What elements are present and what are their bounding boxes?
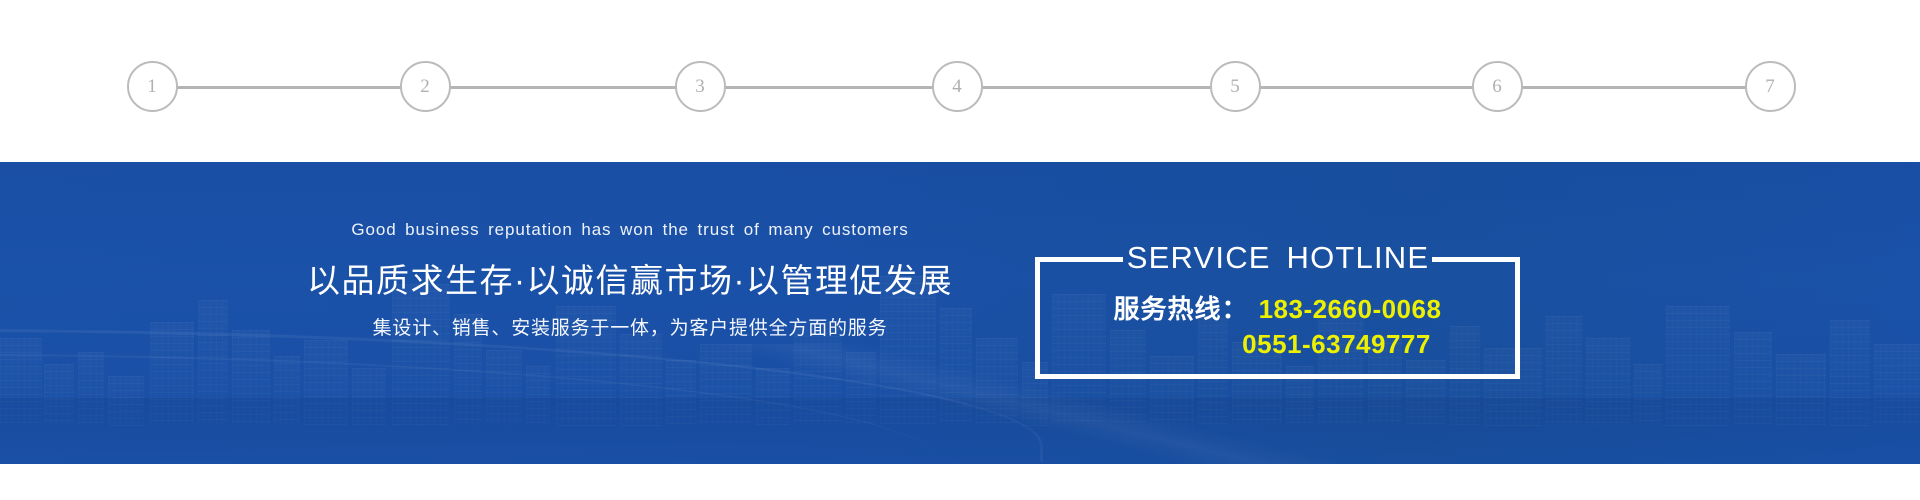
hotline-secondary-row: 0551-63749777 <box>1035 329 1520 360</box>
pagination-strip: 1 2 3 4 5 6 7 <box>0 0 1920 162</box>
step-node-4[interactable]: 4 <box>932 61 983 112</box>
step-node-1[interactable]: 1 <box>127 61 178 112</box>
pagination-steps: 1 2 3 4 5 6 7 <box>0 0 1920 162</box>
step-connector-5-6 <box>1235 86 1497 89</box>
slogan-chinese-sub: 集设计、销售、安装服务于一体，为客户提供全方面的服务 <box>0 313 960 340</box>
step-node-3[interactable]: 3 <box>675 61 726 112</box>
hotline-frame-top-right <box>1432 257 1520 262</box>
step-node-6-label: 6 <box>1492 77 1502 96</box>
hotline-frame-bottom <box>1035 374 1520 379</box>
hotline-label: 服务热线： <box>1114 294 1249 324</box>
slogan-english: Good business reputation has won the tru… <box>0 220 960 240</box>
slogan-chinese-main: 以品质求生存·以诚信赢市场·以管理促发展 <box>0 254 960 302</box>
promo-banner: Good business reputation has won the tru… <box>0 162 1920 464</box>
hotline-title: SERVICE HOTLINE <box>1113 240 1443 276</box>
step-connector-2-3 <box>425 86 700 89</box>
step-connector-6-7 <box>1497 86 1770 89</box>
step-node-7[interactable]: 7 <box>1745 61 1796 112</box>
footer-strip <box>0 464 1920 500</box>
step-node-7-label: 7 <box>1765 77 1775 96</box>
hotline-number-primary[interactable]: 183-2660-0068 <box>1259 294 1442 324</box>
slogan-block: Good business reputation has won the tru… <box>0 162 960 464</box>
step-node-2-label: 2 <box>420 77 430 96</box>
step-node-3-label: 3 <box>695 77 705 96</box>
hotline-primary-row: 服务热线：183-2660-0068 <box>1035 289 1520 326</box>
step-node-2[interactable]: 2 <box>400 61 451 112</box>
step-connector-3-4 <box>700 86 957 89</box>
step-node-5[interactable]: 5 <box>1210 61 1261 112</box>
step-node-5-label: 5 <box>1230 77 1240 96</box>
hotline-frame-top-left <box>1035 257 1123 262</box>
step-node-1-label: 1 <box>147 77 157 96</box>
step-node-4-label: 4 <box>952 77 962 96</box>
service-hotline-box: SERVICE HOTLINE 服务热线：183-2660-0068 0551-… <box>1035 257 1520 379</box>
step-connector-4-5 <box>957 86 1235 89</box>
step-connector-1-2 <box>152 86 425 89</box>
step-node-6[interactable]: 6 <box>1472 61 1523 112</box>
hotline-number-secondary[interactable]: 0551-63749777 <box>1242 329 1431 359</box>
